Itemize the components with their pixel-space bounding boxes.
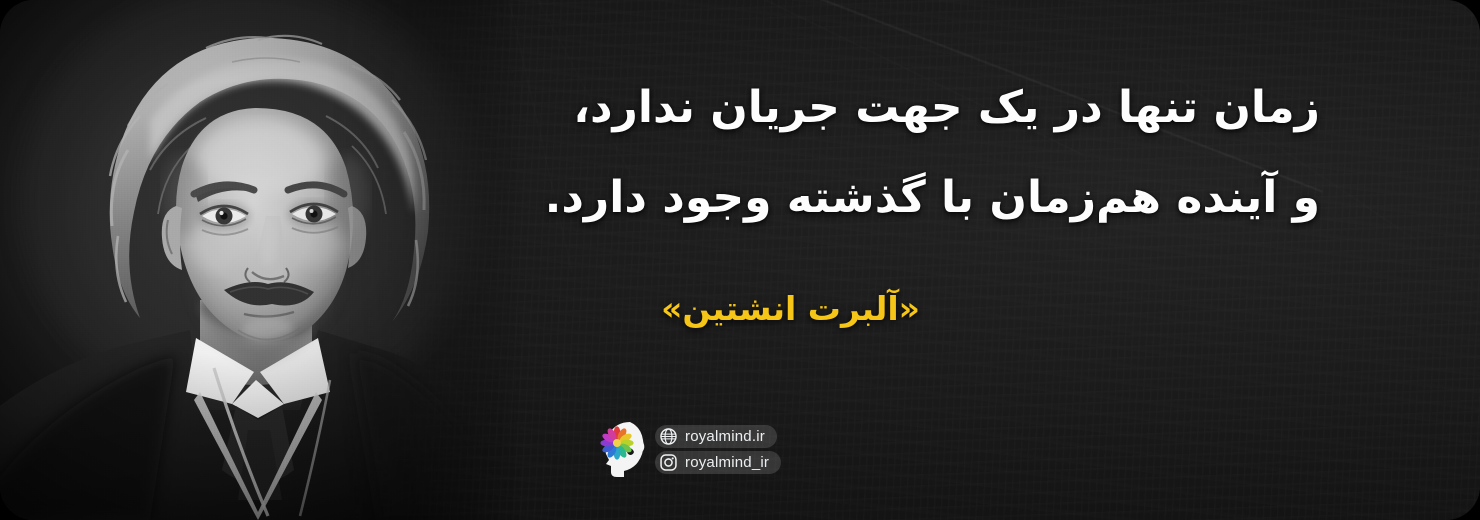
website-handle-pill[interactable]: royalmind.ir <box>655 425 777 448</box>
social-handle-list: royalmind.ir royalmind_ir <box>655 425 781 474</box>
quote-banner: زمان تنها در یک جهت جریان ندارد، و آینده… <box>0 0 1480 520</box>
quote-attribution: «آلبرت انشتین» <box>661 292 920 325</box>
instagram-handle-label: royalmind_ir <box>685 453 769 472</box>
quote-line-2: و آینده هم‌زمان با گذشته وجود دارد. <box>580 176 1320 220</box>
globe-icon <box>659 427 678 446</box>
instagram-handle-pill[interactable]: royalmind_ir <box>655 451 781 474</box>
brand-block: royalmind.ir royalmind_ir <box>600 418 781 480</box>
instagram-icon <box>659 453 678 472</box>
einstein-portrait-photo <box>0 0 520 520</box>
website-handle-label: royalmind.ir <box>685 427 765 446</box>
royalmind-head-logo <box>600 418 646 480</box>
quote-text-block: زمان تنها در یک جهت جریان ندارد، و آینده… <box>580 86 1320 220</box>
quote-line-1: زمان تنها در یک جهت جریان ندارد، <box>580 86 1320 130</box>
